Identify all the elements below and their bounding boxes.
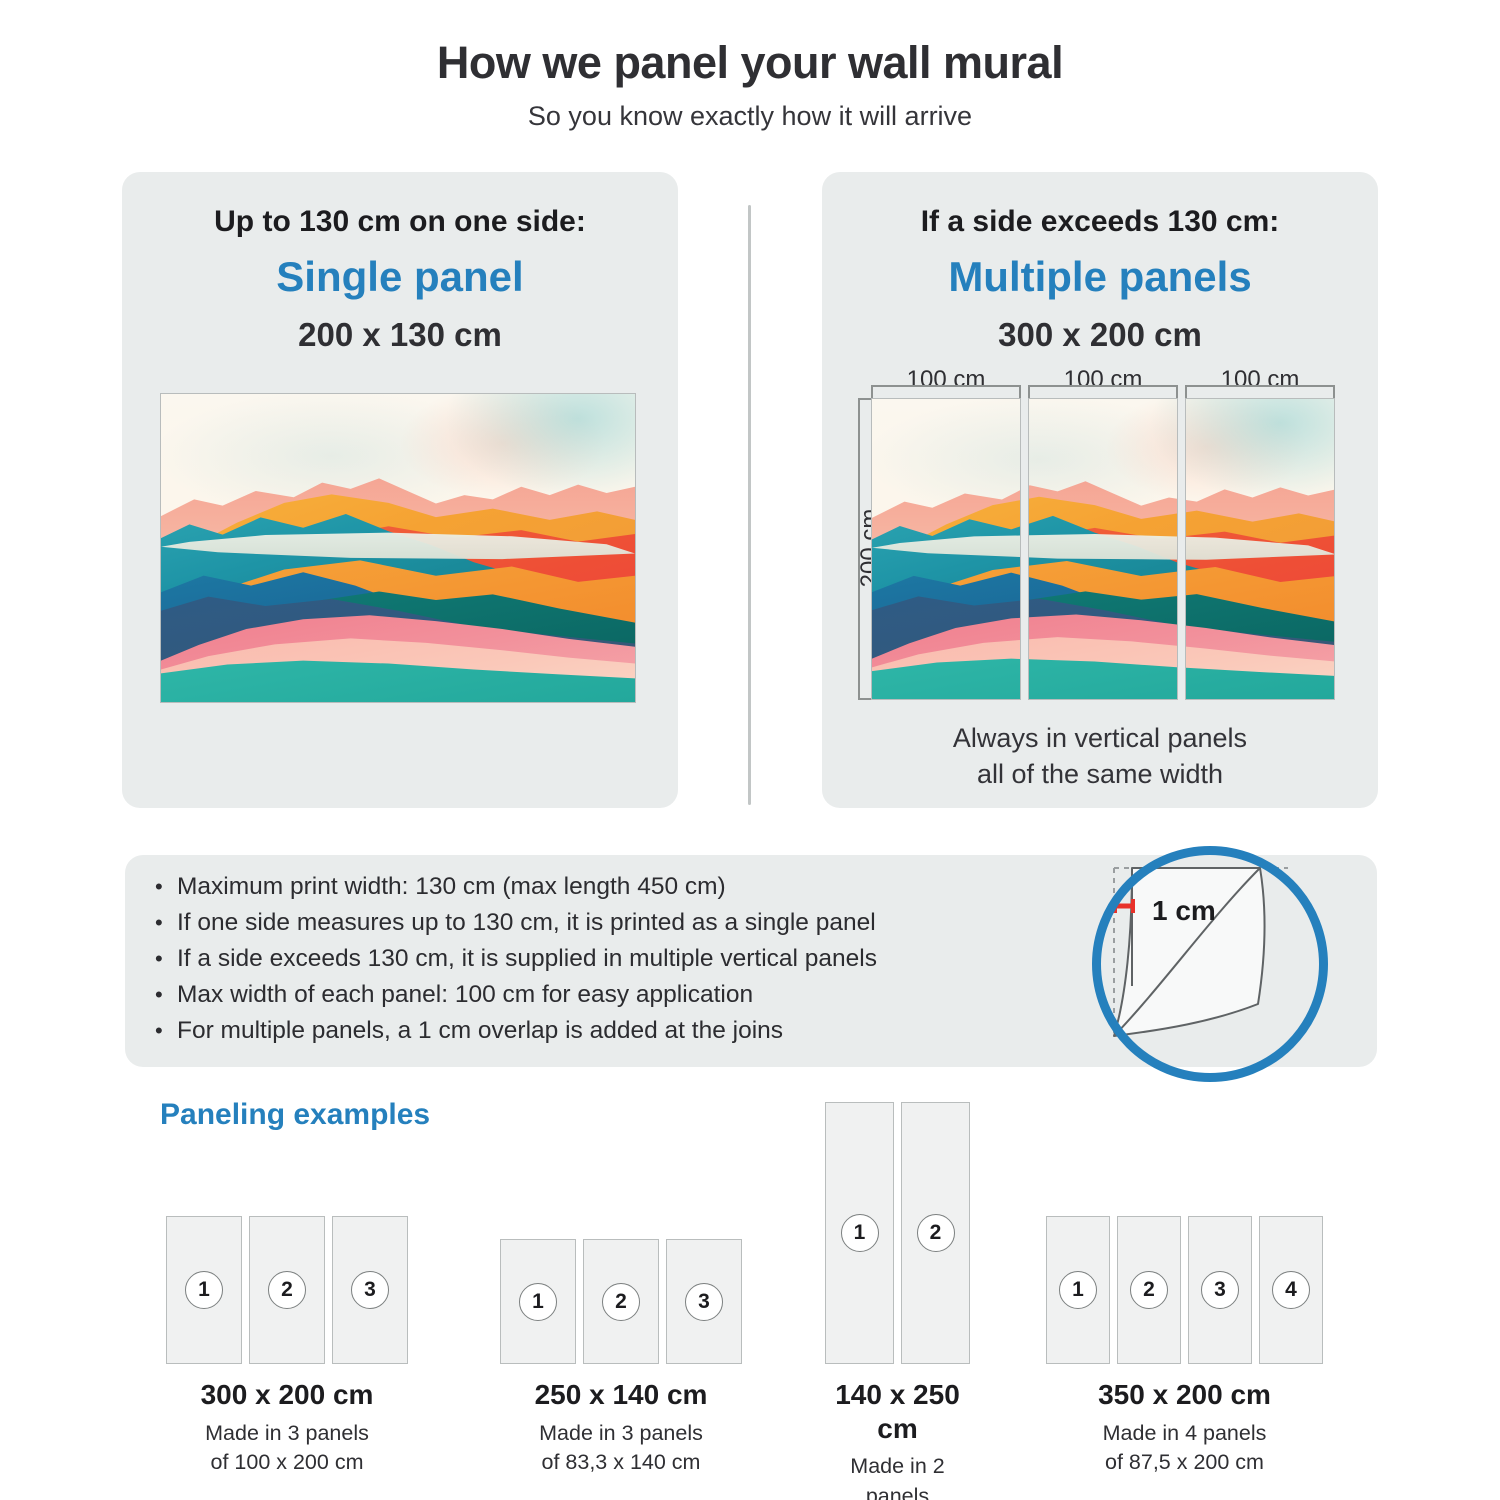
rule-item: • If a side exceeds 130 cm, it is suppli… <box>155 947 1055 972</box>
panel-number: 2 <box>268 1271 306 1309</box>
page-subtitle: So you know exactly how it will arrive <box>0 100 1500 132</box>
example-140x250: 1 2 140 x 250 cm Made in 2 panels of 70 … <box>825 1102 975 1364</box>
panel-number: 3 <box>1201 1271 1239 1309</box>
example-detail-line1: Made in 2 panels <box>825 1452 970 1500</box>
single-panel-subheading: Single panel <box>122 253 678 301</box>
bullet-icon: • <box>155 912 177 934</box>
panel-width-ruler-3 <box>1185 385 1335 399</box>
example-caption: 300 x 200 cm Made in 3 panels of 100 x 2… <box>166 1378 408 1478</box>
mural-strip-1-art <box>872 399 1021 699</box>
example-panel: 3 <box>1188 1216 1252 1364</box>
example-panel: 1 <box>1046 1216 1110 1364</box>
example-panel: 3 <box>332 1216 408 1364</box>
example-panel: 4 <box>1259 1216 1323 1364</box>
example-panels: 1 2 <box>825 1102 975 1364</box>
bullet-icon: • <box>155 1020 177 1042</box>
example-panel: 2 <box>249 1216 325 1364</box>
example-caption: 250 x 140 cm Made in 3 panels of 83,3 x … <box>500 1378 742 1478</box>
example-350x200: 1 2 3 4 350 x 200 cm Made in 4 panels of… <box>1046 1216 1336 1364</box>
panel-width-ruler-1 <box>871 385 1021 399</box>
rule-item: • If one side measures up to 130 cm, it … <box>155 911 1055 936</box>
panel-number: 2 <box>917 1214 955 1252</box>
example-panels: 1 2 3 4 <box>1046 1216 1336 1364</box>
mural-strip-2-art <box>1028 399 1178 699</box>
example-panel: 2 <box>901 1102 970 1364</box>
card-divider <box>748 205 751 805</box>
mural-artwork-single <box>160 393 636 703</box>
example-size: 140 x 250 cm <box>825 1378 970 1445</box>
panel-width-ruler-2 <box>1028 385 1178 399</box>
panel-number: 2 <box>1130 1271 1168 1309</box>
infographic-page: How we panel your wall mural So you know… <box>0 0 1500 1500</box>
panel-number: 1 <box>185 1271 223 1309</box>
rule-text: For multiple panels, a 1 cm overlap is a… <box>177 1019 1055 1044</box>
rules-list: • Maximum print width: 130 cm (max lengt… <box>155 875 1055 1055</box>
rule-item: • Max width of each panel: 100 cm for ea… <box>155 983 1055 1008</box>
example-detail-line1: Made in 4 panels <box>1046 1419 1323 1449</box>
single-panel-size: 200 x 130 cm <box>122 315 678 355</box>
example-caption: 140 x 250 cm Made in 2 panels of 70 x 25… <box>825 1378 970 1500</box>
example-panel: 1 <box>166 1216 242 1364</box>
multiple-panels-caption-line1: Always in vertical panels <box>822 720 1378 756</box>
bullet-icon: • <box>155 984 177 1006</box>
mural-strip-1 <box>871 398 1021 700</box>
multiple-panels-size: 300 x 200 cm <box>822 315 1378 355</box>
example-panel: 1 <box>825 1102 894 1364</box>
panel-number: 1 <box>519 1283 557 1321</box>
panel-number: 4 <box>1272 1271 1310 1309</box>
page-title: How we panel your wall mural <box>0 38 1500 88</box>
example-panel: 1 <box>500 1239 576 1364</box>
panel-number: 1 <box>841 1214 879 1252</box>
example-panel: 3 <box>666 1239 742 1364</box>
overlap-label: 1 cm <box>1152 895 1216 927</box>
rule-text: Maximum print width: 130 cm (max length … <box>177 875 1055 900</box>
example-300x200: 1 2 3 300 x 200 cm Made in 3 panels of 1… <box>166 1216 416 1364</box>
example-panels: 1 2 3 <box>166 1216 416 1364</box>
example-size: 250 x 140 cm <box>500 1378 742 1412</box>
panel-number: 3 <box>685 1283 723 1321</box>
rule-item: • Maximum print width: 130 cm (max lengt… <box>155 875 1055 900</box>
mural-strip-3-art <box>1185 399 1335 699</box>
example-panels: 1 2 3 <box>500 1239 750 1364</box>
single-panel-heading: Up to 130 cm on one side: <box>122 204 678 240</box>
mural-strip-2 <box>1028 398 1178 700</box>
example-detail-line2: of 100 x 200 cm <box>166 1448 408 1478</box>
multiple-panels-caption: Always in vertical panels all of the sam… <box>822 720 1378 793</box>
example-detail-line1: Made in 3 panels <box>500 1419 742 1449</box>
rule-text: Max width of each panel: 100 cm for easy… <box>177 983 1055 1008</box>
mural-strip-3 <box>1185 398 1335 700</box>
mural-artwork-multi <box>871 398 1335 700</box>
rule-text: If one side measures up to 130 cm, it is… <box>177 911 1055 936</box>
bullet-icon: • <box>155 876 177 898</box>
example-caption: 350 x 200 cm Made in 4 panels of 87,5 x … <box>1046 1378 1323 1478</box>
multiple-panels-subheading: Multiple panels <box>822 253 1378 301</box>
example-detail-line2: of 87,5 x 200 cm <box>1046 1448 1323 1478</box>
rule-text: If a side exceeds 130 cm, it is supplied… <box>177 947 1055 972</box>
header: How we panel your wall mural So you know… <box>0 38 1500 133</box>
example-detail-line2: of 83,3 x 140 cm <box>500 1448 742 1478</box>
panel-number: 3 <box>351 1271 389 1309</box>
paneling-examples-title: Paneling examples <box>160 1098 430 1132</box>
panel-number: 1 <box>1059 1271 1097 1309</box>
overlap-circle-ring <box>1092 846 1328 1082</box>
example-panel: 2 <box>583 1239 659 1364</box>
multiple-panels-caption-line2: all of the same width <box>822 756 1378 792</box>
example-size: 300 x 200 cm <box>166 1378 408 1412</box>
bullet-icon: • <box>155 948 177 970</box>
example-detail-line1: Made in 3 panels <box>166 1419 408 1449</box>
example-panel: 2 <box>1117 1216 1181 1364</box>
example-size: 350 x 200 cm <box>1046 1378 1323 1412</box>
example-250x140: 1 2 3 250 x 140 cm Made in 3 panels of 8… <box>500 1239 750 1364</box>
panel-number: 2 <box>602 1283 640 1321</box>
multiple-panels-heading: If a side exceeds 130 cm: <box>822 204 1378 240</box>
rule-item: • For multiple panels, a 1 cm overlap is… <box>155 1019 1055 1044</box>
